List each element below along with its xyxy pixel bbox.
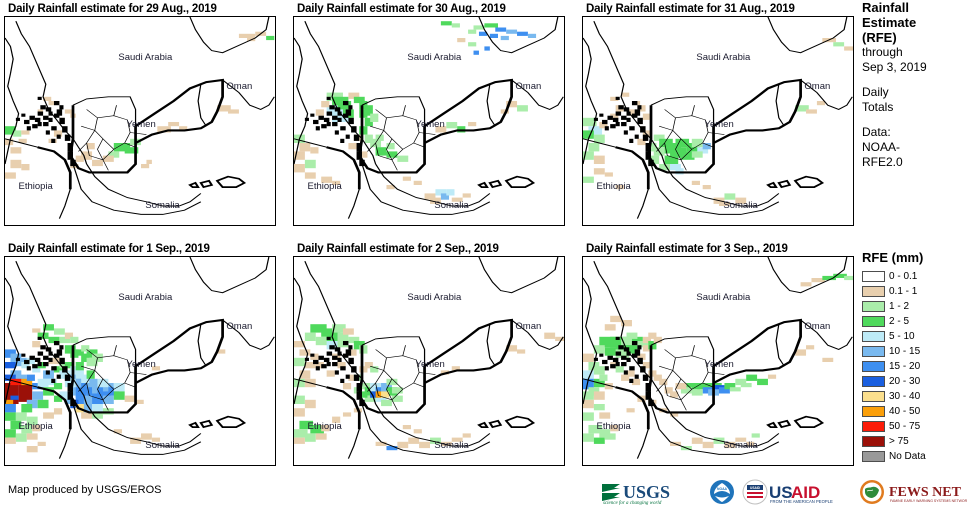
- map-panel: Daily Rainfall estimate for 29 Aug., 201…: [4, 2, 276, 226]
- legend-swatch: [862, 406, 885, 417]
- legend-item: 15 - 20: [862, 359, 967, 374]
- noaa-logo: NOAA: [709, 479, 735, 505]
- legend-label: > 75: [889, 436, 909, 447]
- legend-swatch: [862, 331, 885, 342]
- legend-swatch: [862, 286, 885, 297]
- legend-swatch: [862, 361, 885, 372]
- legend-label: 2 - 5: [889, 316, 909, 327]
- panel-title: Daily Rainfall estimate for 2 Sep., 2019: [297, 242, 565, 256]
- socotra-islands: [768, 177, 822, 188]
- map-panel: Daily Rainfall estimate for 31 Aug., 201…: [582, 2, 854, 226]
- terrain-mask: [305, 97, 365, 166]
- legend-item: 40 - 50: [862, 404, 967, 419]
- through-label: through: [862, 45, 967, 60]
- country-label: Oman: [226, 321, 252, 332]
- svg-text:NOAA: NOAA: [717, 487, 728, 491]
- legend-swatch: [862, 421, 885, 432]
- country-label: Somalia: [723, 440, 757, 451]
- legend-item: 0.1 - 1: [862, 284, 967, 299]
- country-label: Somalia: [145, 440, 179, 451]
- rfe-title-line3: (RFE): [862, 30, 967, 45]
- through-date: Sep 3, 2019: [862, 60, 967, 75]
- legend-label: 0 - 0.1: [889, 271, 917, 282]
- legend-label: No Data: [889, 451, 926, 462]
- country-label: Oman: [515, 321, 541, 332]
- country-label: Ethiopia: [308, 421, 342, 432]
- map-credit: Map produced by USGS/EROS: [8, 484, 161, 496]
- svg-text:FAMINE EARLY WARNING SYSTEMS N: FAMINE EARLY WARNING SYSTEMS NETWORK: [890, 499, 967, 503]
- svg-text:FROM THE AMERICAN PEOPLE: FROM THE AMERICAN PEOPLE: [770, 499, 833, 504]
- map-panel: Daily Rainfall estimate for 30 Aug., 201…: [293, 2, 565, 226]
- rfe-title-line2: Estimate: [862, 15, 967, 30]
- usgs-logo: USGS science for a changing world: [600, 479, 702, 505]
- legend-swatch: [862, 316, 885, 327]
- country-label: Yemen: [705, 119, 734, 130]
- period-line1: Daily: [862, 85, 967, 100]
- legend-item: No Data: [862, 449, 967, 464]
- logo-strip: USGS science for a changing world NOAA U…: [600, 478, 967, 506]
- panel-title: Daily Rainfall estimate for 1 Sep., 2019: [8, 242, 276, 256]
- svg-text:USAID: USAID: [750, 486, 761, 490]
- legend-item: 1 - 2: [862, 299, 967, 314]
- country-label: Yemen: [705, 359, 734, 370]
- data-label: Data:: [862, 125, 967, 140]
- country-label: Saudi Arabia: [407, 52, 461, 63]
- country-label: Ethiopia: [597, 181, 631, 192]
- usaid-logo: USAID US AID FROM THE AMERICAN PEOPLE: [742, 479, 852, 505]
- country-label: Yemen: [127, 119, 156, 130]
- svg-text:USGS: USGS: [623, 482, 670, 502]
- legend-swatch: [862, 451, 885, 462]
- legend-item: 50 - 75: [862, 419, 967, 434]
- legend-item: 2 - 5: [862, 314, 967, 329]
- legend-title: RFE (mm): [862, 250, 967, 265]
- panel-title: Daily Rainfall estimate for 3 Sep., 2019: [586, 242, 854, 256]
- panel-title: Daily Rainfall estimate for 31 Aug., 201…: [586, 2, 854, 16]
- country-label: Ethiopia: [19, 421, 53, 432]
- panel-title: Daily Rainfall estimate for 29 Aug., 201…: [8, 2, 276, 16]
- legend-label: 1 - 2: [889, 301, 909, 312]
- country-label: Oman: [515, 81, 541, 92]
- socotra-islands: [190, 417, 244, 428]
- map-frame[interactable]: Saudi ArabiaOmanYemenEthiopiaSomalia: [293, 256, 565, 466]
- legend-swatch: [862, 436, 885, 447]
- country-label: Oman: [804, 321, 830, 332]
- legend-label: 20 - 30: [889, 376, 920, 387]
- legend-item: 10 - 15: [862, 344, 967, 359]
- legend-item: 5 - 10: [862, 329, 967, 344]
- legend-label: 0.1 - 1: [889, 286, 917, 297]
- country-label: Yemen: [127, 359, 156, 370]
- map-panel: Daily Rainfall estimate for 2 Sep., 2019…: [293, 242, 565, 466]
- legend-item: > 75: [862, 434, 967, 449]
- data-source-line2: RFE2.0: [862, 155, 967, 170]
- legend-swatch: [862, 346, 885, 357]
- legend-item: 30 - 40: [862, 389, 967, 404]
- legend-rows: 0 - 0.10.1 - 11 - 22 - 55 - 1010 - 1515 …: [862, 269, 967, 464]
- country-label: Oman: [804, 81, 830, 92]
- country-label: Yemen: [416, 359, 445, 370]
- country-label: Somalia: [434, 200, 468, 211]
- legend-swatch: [862, 376, 885, 387]
- legend-label: 5 - 10: [889, 331, 915, 342]
- country-label: Saudi Arabia: [118, 52, 172, 63]
- country-label: Somalia: [145, 200, 179, 211]
- period-line2: Totals: [862, 100, 967, 115]
- country-label: Saudi Arabia: [118, 292, 172, 303]
- legend-label: 15 - 20: [889, 361, 920, 372]
- fewsnet-logo: FEWS NET FAMINE EARLY WARNING SYSTEMS NE…: [859, 479, 967, 505]
- map-panel: Daily Rainfall estimate for 3 Sep., 2019…: [582, 242, 854, 466]
- legend-swatch: [862, 301, 885, 312]
- country-label: Ethiopia: [597, 421, 631, 432]
- country-label: Somalia: [434, 440, 468, 451]
- legend-swatch: [862, 271, 885, 282]
- country-label: Saudi Arabia: [696, 292, 750, 303]
- country-label: Yemen: [416, 119, 445, 130]
- map-frame[interactable]: Saudi ArabiaOmanYemenEthiopiaSomalia: [582, 256, 854, 466]
- map-frame[interactable]: Saudi ArabiaOmanYemenEthiopiaSomalia: [582, 16, 854, 226]
- legend-label: 10 - 15: [889, 346, 920, 357]
- map-frame[interactable]: Saudi ArabiaOmanYemenEthiopiaSomalia: [4, 256, 276, 466]
- country-label: Ethiopia: [19, 181, 53, 192]
- data-source-line1: NOAA-: [862, 140, 967, 155]
- svg-text:science for a changing world: science for a changing world: [603, 501, 662, 505]
- legend-item: 0 - 0.1: [862, 269, 967, 284]
- country-label: Oman: [226, 81, 252, 92]
- map-panel: Daily Rainfall estimate for 1 Sep., 2019…: [4, 242, 276, 466]
- socotra-islands: [190, 177, 244, 188]
- legend-item: 20 - 30: [862, 374, 967, 389]
- legend-label: 50 - 75: [889, 421, 920, 432]
- country-label: Saudi Arabia: [407, 292, 461, 303]
- country-label: Ethiopia: [308, 181, 342, 192]
- map-frame[interactable]: Saudi ArabiaOmanYemenEthiopiaSomalia: [4, 16, 276, 226]
- legend-label: 40 - 50: [889, 406, 920, 417]
- country-label: Saudi Arabia: [696, 52, 750, 63]
- legend: RFE (mm) 0 - 0.10.1 - 11 - 22 - 55 - 101…: [862, 250, 967, 464]
- socotra-islands: [768, 417, 822, 428]
- map-frame[interactable]: Saudi ArabiaOmanYemenEthiopiaSomalia: [293, 16, 565, 226]
- country-label: Somalia: [723, 200, 757, 211]
- socotra-islands: [479, 417, 533, 428]
- rfe-map-page: Daily Rainfall estimate for 29 Aug., 201…: [0, 0, 967, 511]
- rfe-title-line1: Rainfall: [862, 0, 967, 15]
- svg-text:FEWS NET: FEWS NET: [889, 485, 962, 500]
- legend-swatch: [862, 391, 885, 402]
- legend-label: 30 - 40: [889, 391, 920, 402]
- socotra-islands: [479, 177, 533, 188]
- panel-title: Daily Rainfall estimate for 30 Aug., 201…: [297, 2, 565, 16]
